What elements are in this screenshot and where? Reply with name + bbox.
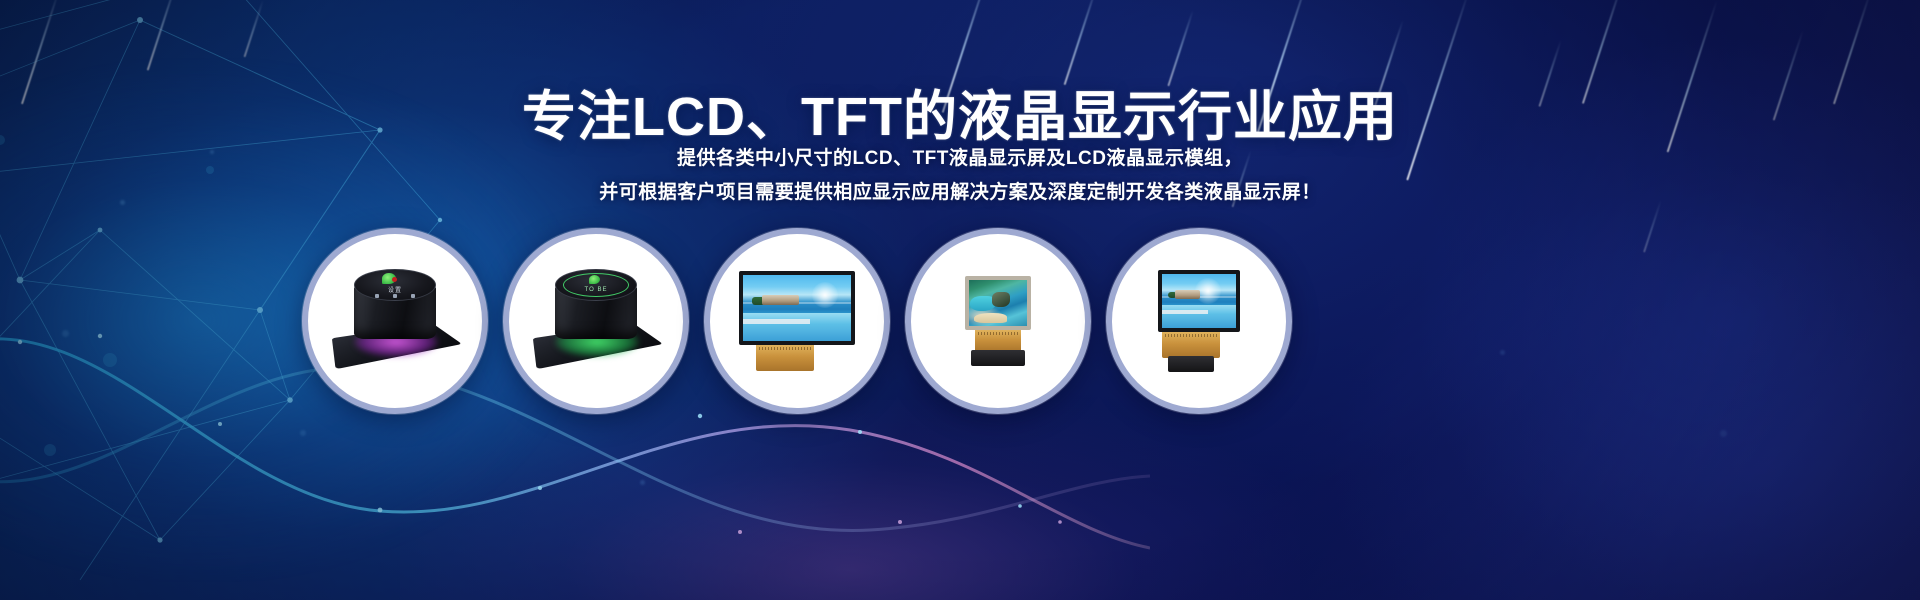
flex-ribbon-cable [1162, 332, 1220, 358]
tft-panel-widescreen-image [727, 256, 867, 386]
driver-pcb [971, 350, 1025, 366]
device-screen-glyphs [368, 294, 422, 298]
smart-speaker-green-image: TO BE [521, 261, 671, 381]
leaf-icon [589, 275, 600, 284]
product-circle-tft-module-aerial[interactable] [905, 228, 1091, 414]
page-title: 专注LCD、TFT的液晶显示行业应用 [0, 72, 1920, 151]
tft-module-beach-image [1129, 256, 1269, 386]
driver-pcb [1168, 356, 1214, 372]
screen-content-beach-resort [743, 275, 851, 341]
flex-ribbon-cable [975, 330, 1021, 352]
tft-module-aerial-image [928, 256, 1068, 386]
lcd-screen [739, 271, 855, 345]
lcd-screen [1158, 270, 1240, 332]
screen-content-beach-resort [1162, 274, 1236, 328]
screen-content-aerial-coast [969, 280, 1027, 326]
product-showcase: 设置 TO BE [0, 228, 1920, 418]
product-circle-tft-module-beach[interactable] [1106, 228, 1292, 414]
device-screen-label: 设置 [370, 285, 420, 294]
flex-ribbon-cable [756, 345, 814, 371]
product-circle-smart-speaker-purple[interactable]: 设置 [302, 228, 488, 414]
lcd-screen [965, 276, 1031, 330]
smart-speaker-purple-image: 设置 [320, 261, 470, 381]
status-dot-icon [392, 277, 397, 282]
product-circle-smart-speaker-green[interactable]: TO BE [503, 228, 689, 414]
product-circle-tft-panel-widescreen[interactable] [704, 228, 890, 414]
subtitle-line-1: 提供各类中小尺寸的LCD、TFT液晶显示屏及LCD液晶显示模组， [0, 143, 1920, 170]
subtitle-line-2: 并可根据客户项目需要提供相应显示应用解决方案及深度定制开发各类液晶显示屏！ [0, 177, 1920, 204]
hero-banner: 专注LCD、TFT的液晶显示行业应用 提供各类中小尺寸的LCD、TFT液晶显示屏… [0, 0, 1920, 600]
device-screen-label: TO BE [571, 287, 621, 293]
